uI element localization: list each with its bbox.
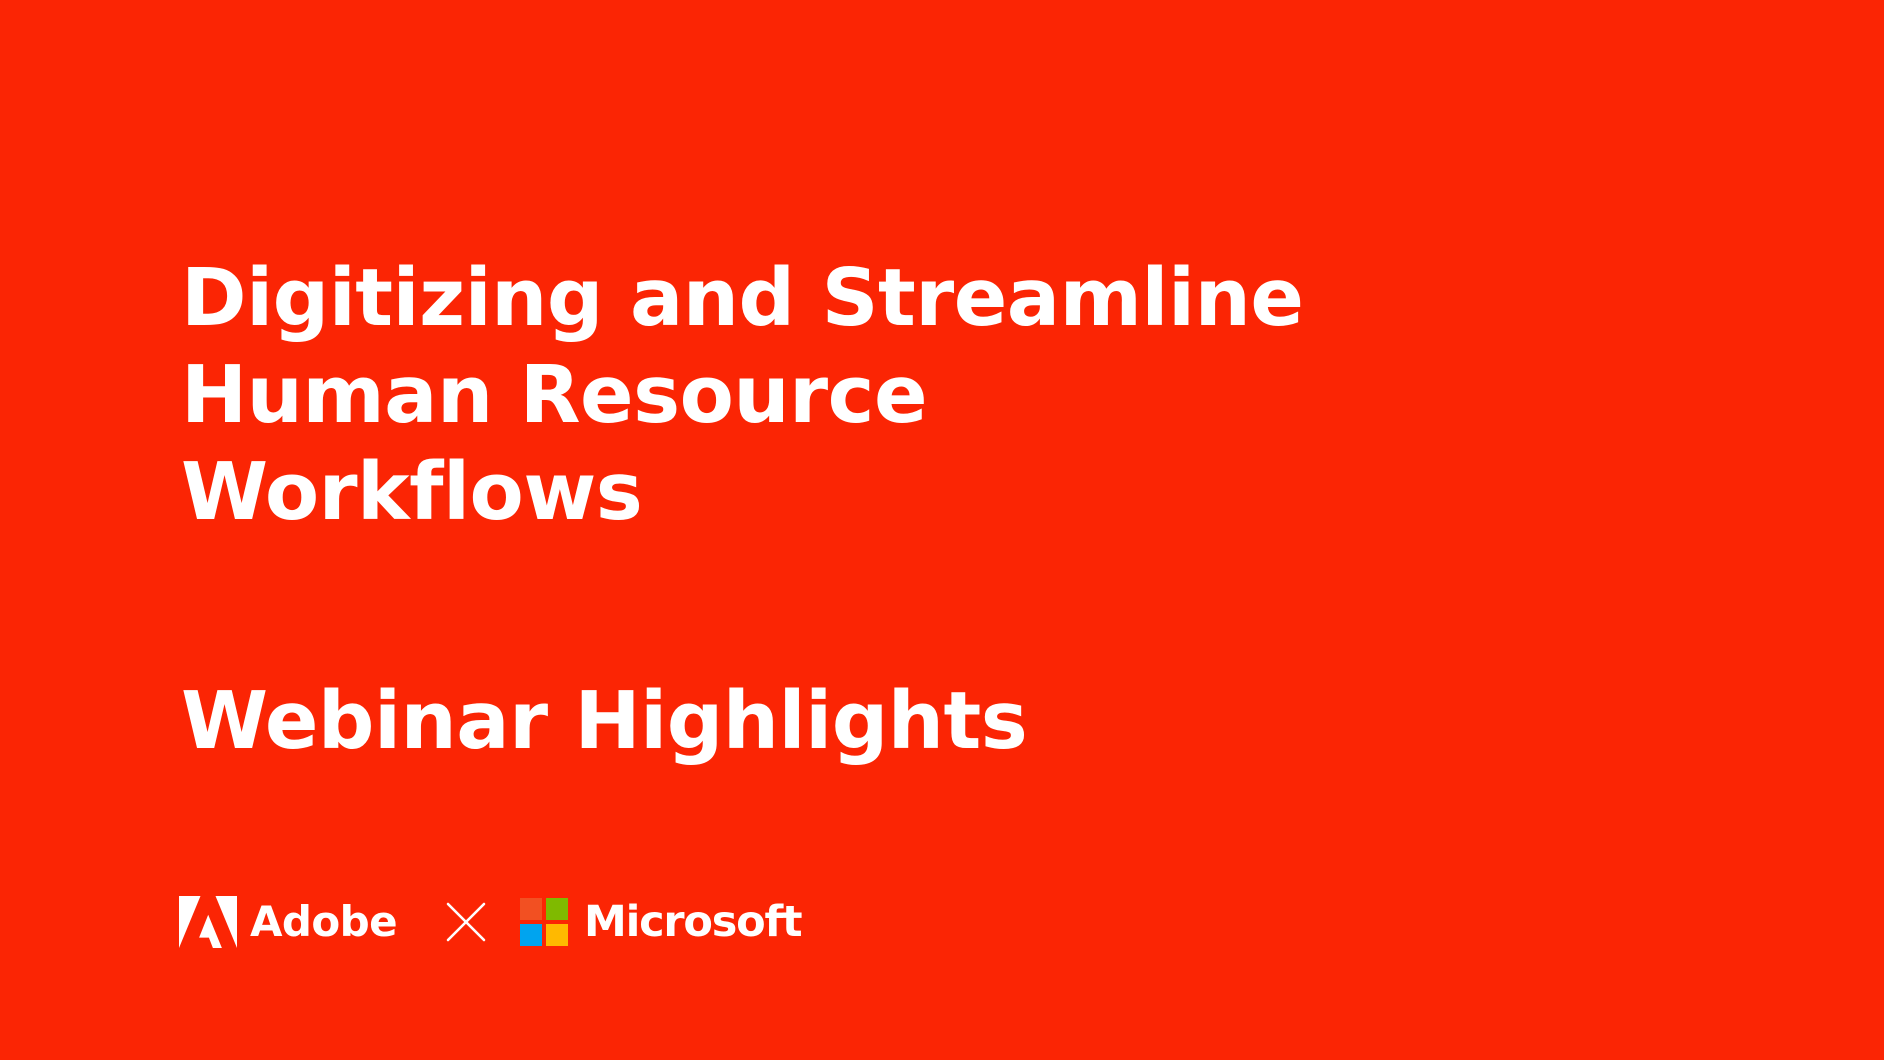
microsoft-four-square-logomark — [520, 898, 568, 946]
square-top-left-icon — [520, 898, 542, 920]
adobe-a-logomark — [179, 896, 237, 948]
adobe-wordmark: Adobe — [250, 901, 397, 943]
adobe-logo: Adobe — [179, 896, 397, 948]
page-title: Digitizing and Streamline Human Resource… — [181, 250, 1341, 541]
x-cross-icon — [443, 899, 489, 945]
slide-subtitle: Webinar Highlights — [181, 541, 1481, 770]
square-top-right-icon — [546, 898, 568, 920]
microsoft-wordmark: Microsoft — [584, 901, 801, 944]
square-bottom-left-icon — [520, 924, 542, 946]
square-bottom-right-icon — [546, 924, 568, 946]
microsoft-logo: Microsoft — [520, 898, 801, 946]
title-slide: Digitizing and Streamline Human Resource… — [0, 0, 1884, 1060]
slide-text-block: Digitizing and Streamline Human Resource… — [181, 250, 1481, 770]
partner-logo-lockup: Adobe Microsoft — [179, 890, 801, 954]
